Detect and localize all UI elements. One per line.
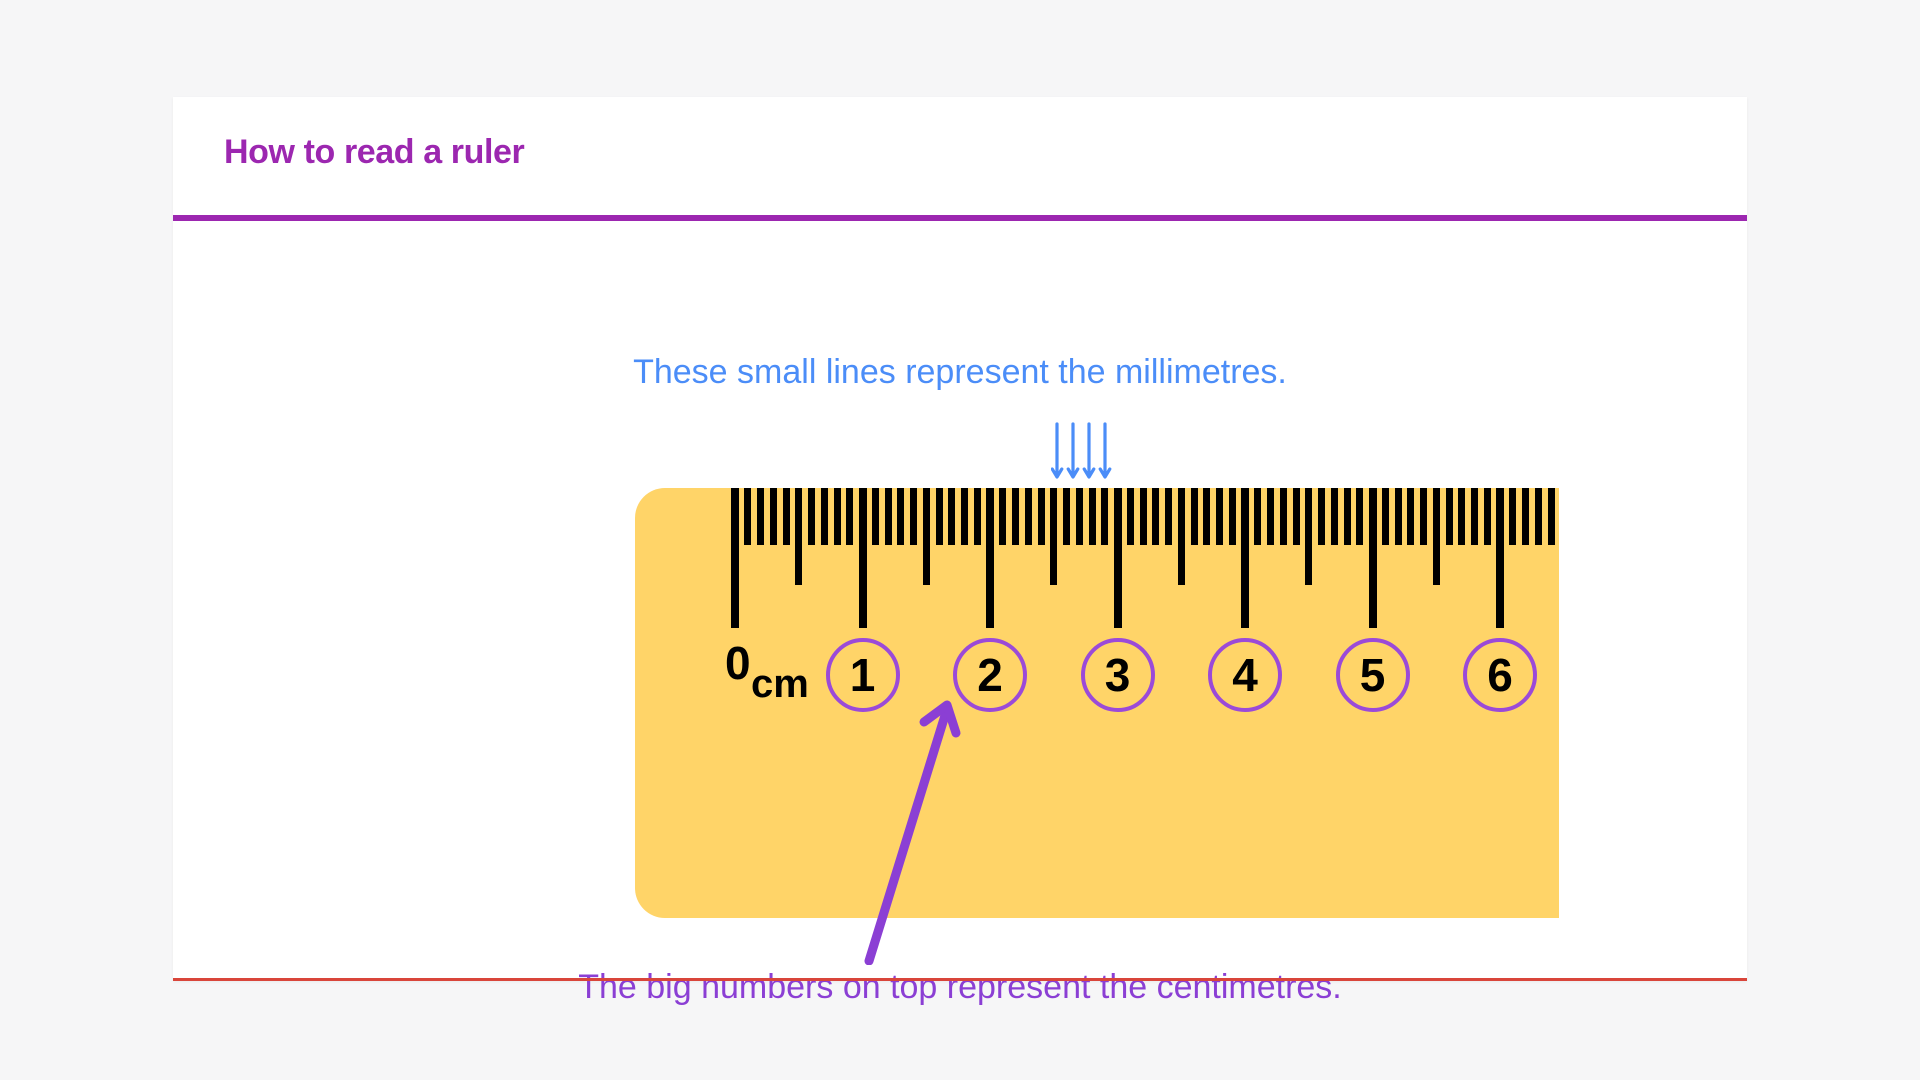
ruler-tick-mm xyxy=(1395,488,1402,545)
ruler-tick-mm xyxy=(1165,488,1172,545)
ruler-tick-half xyxy=(1178,488,1185,585)
ruler-tick-mm xyxy=(1191,488,1198,545)
ruler-tick-mm xyxy=(1420,488,1427,545)
ruler-tick-mm xyxy=(961,488,968,545)
ruler-tick-mm xyxy=(1509,488,1516,545)
ruler-tick-half xyxy=(1433,488,1440,585)
ruler-tick-mm xyxy=(1127,488,1134,545)
ruler-tick-cm xyxy=(731,488,739,628)
ruler-tick-mm xyxy=(770,488,777,545)
ruler-tick-mm xyxy=(1535,488,1542,545)
ruler-tick-mm xyxy=(783,488,790,545)
ruler-tick-mm xyxy=(1140,488,1147,545)
ruler-tick-mm xyxy=(1407,488,1414,545)
ruler-tick-cm xyxy=(986,488,994,628)
ruler-tick-mm xyxy=(1152,488,1159,545)
ruler-tick-mm xyxy=(910,488,917,545)
ruler-tick-mm xyxy=(1471,488,1478,545)
ruler-tick-mm xyxy=(1076,488,1083,545)
ruler-tick-mm xyxy=(1344,488,1351,545)
centimetre-note: The big numbers on top represent the cen… xyxy=(173,968,1747,1007)
ruler-tick-mm xyxy=(1484,488,1491,545)
ruler-cm-label-6: 6 xyxy=(1463,638,1537,712)
ruler-tick-mm xyxy=(1229,488,1236,545)
ruler-tick-mm xyxy=(936,488,943,545)
ruler-tick-mm xyxy=(1267,488,1274,545)
ruler-tick-half xyxy=(923,488,930,585)
ruler-tick-mm xyxy=(744,488,751,545)
ruler-tick-mm xyxy=(1101,488,1108,545)
ruler-zero-label: 0 xyxy=(725,640,751,686)
ruler-cm-label-5: 5 xyxy=(1336,638,1410,712)
ruler-tick-cm xyxy=(1241,488,1249,628)
ruler-tick-mm xyxy=(1012,488,1019,545)
up-arrow-icon xyxy=(863,695,993,965)
ruler-tick-mm xyxy=(1318,488,1325,545)
ruler-tick-cm xyxy=(859,488,867,628)
ruler-tick-mm xyxy=(1458,488,1465,545)
ruler-cm-label-4: 4 xyxy=(1208,638,1282,712)
page-title: How to read a ruler xyxy=(224,133,524,172)
ruler-tick-mm xyxy=(885,488,892,545)
ruler-tick-mm xyxy=(948,488,955,545)
ruler-tick-mm xyxy=(1216,488,1223,545)
ruler-tick-mm xyxy=(1356,488,1363,545)
ruler-tick-mm xyxy=(1293,488,1300,545)
down-arrows-icon xyxy=(1051,422,1121,487)
ruler-tick-mm xyxy=(821,488,828,545)
ruler-tick-mm xyxy=(1446,488,1453,545)
ruler-tick-mm xyxy=(897,488,904,545)
ruler-tick-mm xyxy=(872,488,879,545)
ruler-tick-mm xyxy=(1038,488,1045,545)
ruler-tick-mm xyxy=(1382,488,1389,545)
title-divider xyxy=(173,215,1747,221)
ruler-tick-cm xyxy=(1114,488,1122,628)
ruler-tick-mm xyxy=(834,488,841,545)
card-bottom-rule xyxy=(173,978,1747,981)
ruler-tick-cm xyxy=(1369,488,1377,628)
ruler-tick-half xyxy=(1305,488,1312,585)
ruler-tick-mm xyxy=(1089,488,1096,545)
millimetre-note: These small lines represent the millimet… xyxy=(173,353,1747,392)
ruler-tick-mm xyxy=(974,488,981,545)
ruler-tick-mm xyxy=(1548,488,1555,545)
ruler-unit-label: cm xyxy=(751,664,809,704)
ruler-tick-mm xyxy=(808,488,815,545)
ruler-cm-label-3: 3 xyxy=(1081,638,1155,712)
ruler-tick-mm xyxy=(1025,488,1032,545)
ruler-tick-mm xyxy=(1254,488,1261,545)
ruler-tick-mm xyxy=(1522,488,1529,545)
ruler-tick-mm xyxy=(757,488,764,545)
ruler-tick-mm xyxy=(1063,488,1070,545)
ruler-tick-half xyxy=(1050,488,1057,585)
ruler-tick-mm xyxy=(999,488,1006,545)
ruler-tick-half xyxy=(795,488,802,585)
ruler-tick-mm xyxy=(1280,488,1287,545)
ruler-tick-mm xyxy=(846,488,853,545)
page-root: How to read a ruler These small lines re… xyxy=(0,0,1920,1080)
ruler-tick-cm xyxy=(1496,488,1504,628)
lesson-card: How to read a ruler These small lines re… xyxy=(173,97,1747,981)
ruler-tick-mm xyxy=(1331,488,1338,545)
ruler-tick-mm xyxy=(1203,488,1210,545)
